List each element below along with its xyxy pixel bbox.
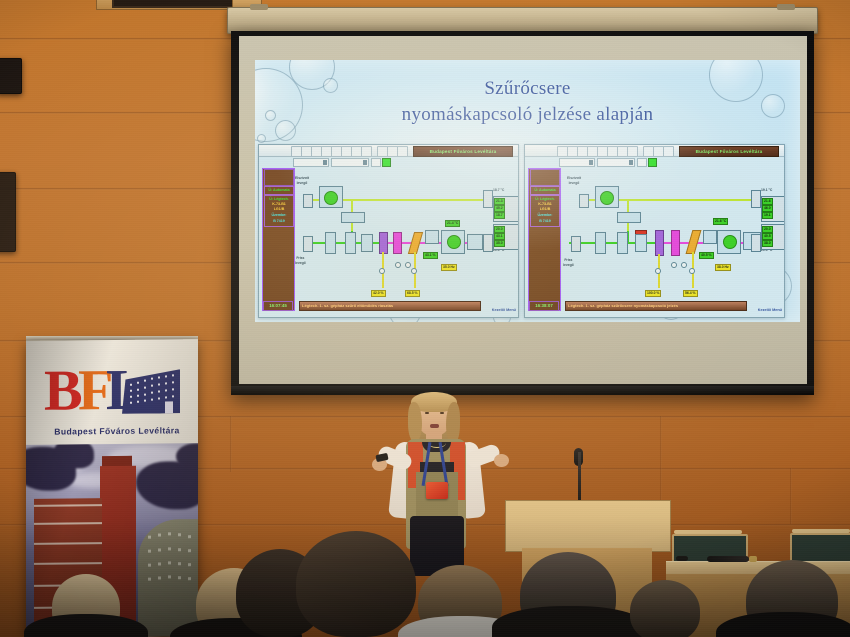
presentation-photo-scene: Szűrőcsere nyomáskapcsoló jelzése alapjá… <box>0 0 850 637</box>
photo-vignette <box>0 0 850 637</box>
